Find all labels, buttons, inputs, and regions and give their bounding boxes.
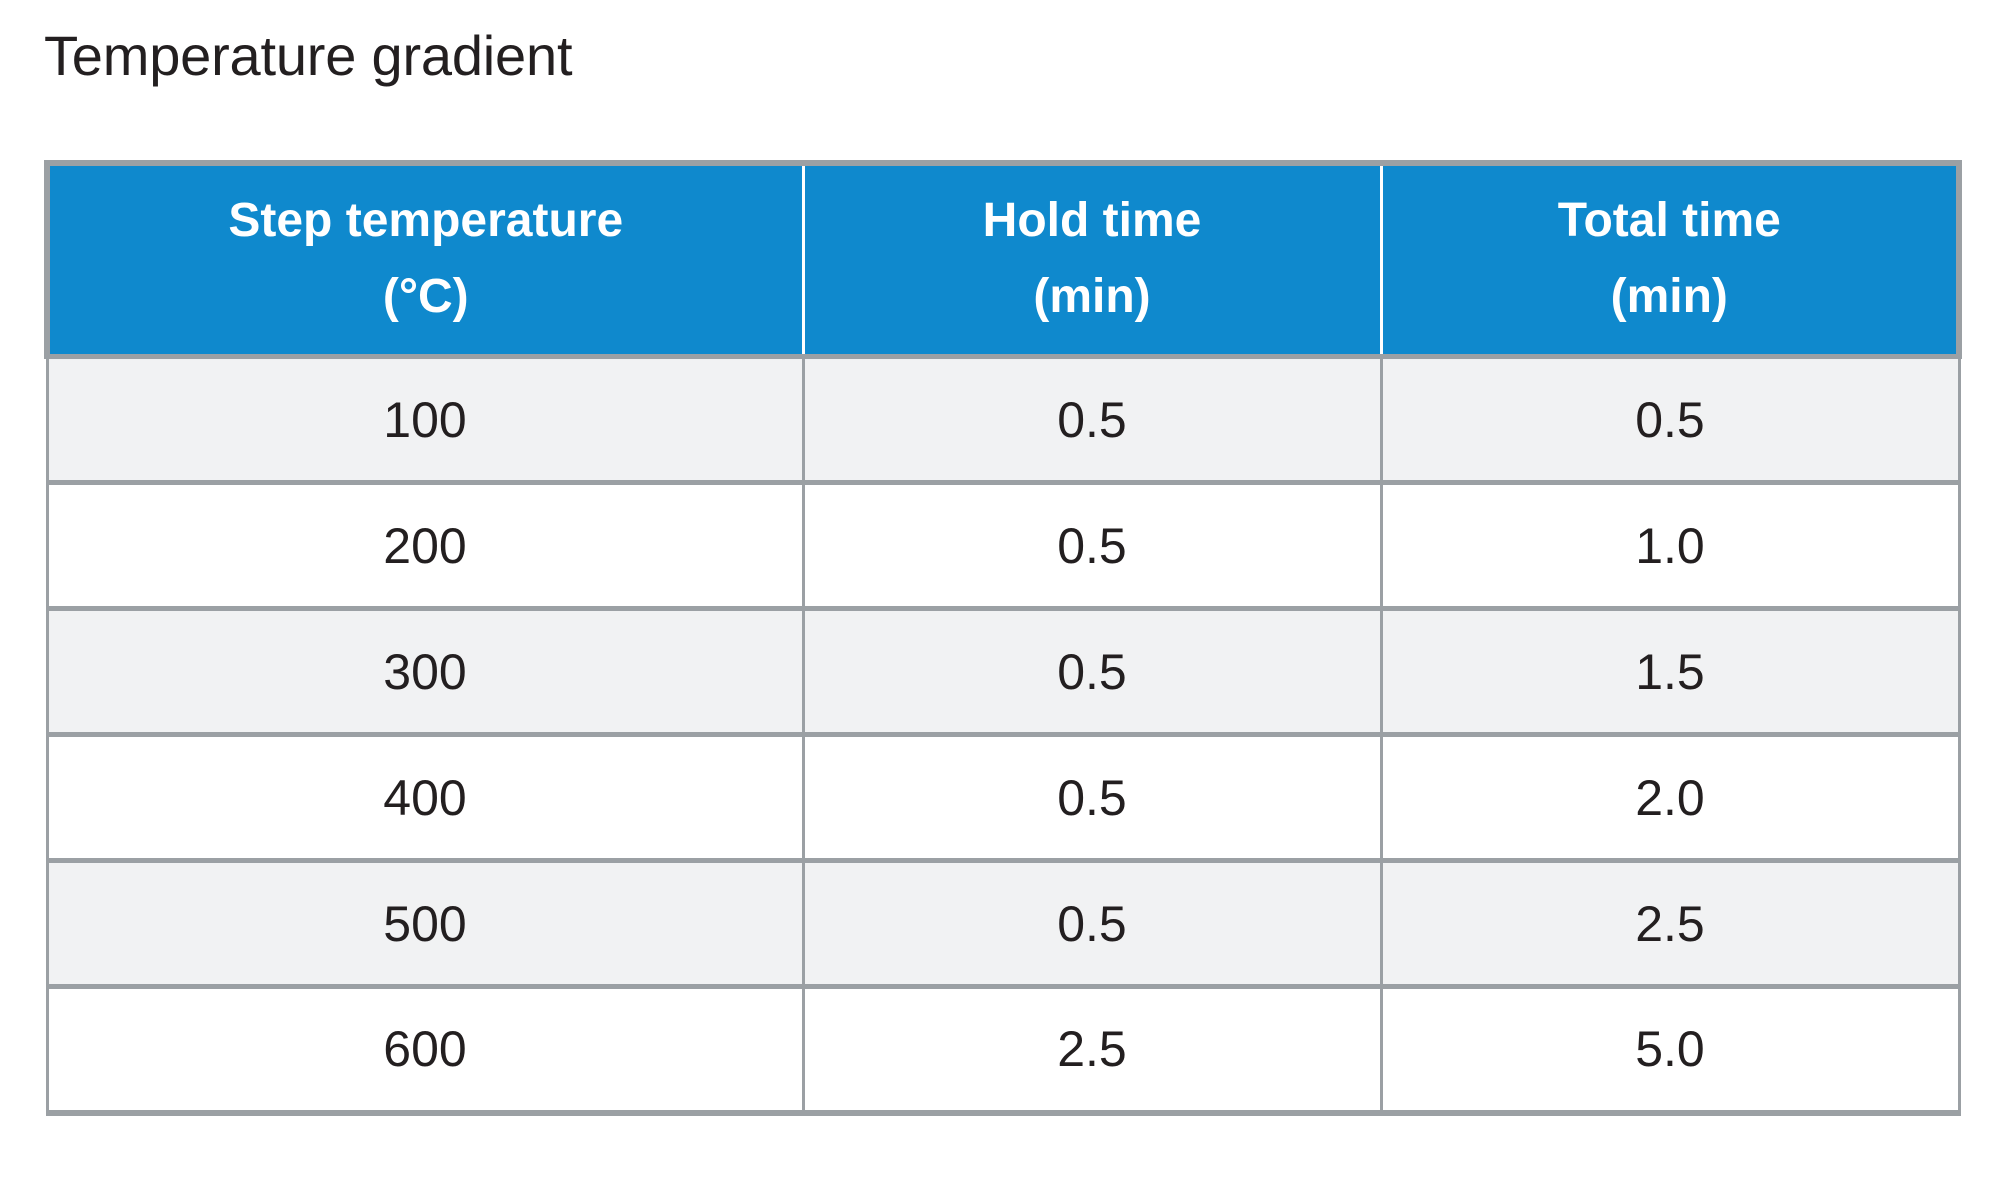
column-header-total-time-unit: (min) [1393,266,1947,328]
column-header-hold-time: Hold time (min) [803,163,1381,357]
table-header-row: Step temperature (°C) Hold time (min) To… [47,163,1959,357]
cell-hold-time: 0.5 [803,483,1381,609]
table-row: 400 0.5 2.0 [47,735,1959,861]
cell-total-time: 5.0 [1381,987,1959,1113]
table-figure: Temperature gradient Step temperature (°… [0,0,2000,1181]
cell-step-temperature: 200 [47,483,803,609]
cell-total-time: 1.5 [1381,609,1959,735]
cell-hold-time: 2.5 [803,987,1381,1113]
cell-step-temperature: 300 [47,609,803,735]
cell-hold-time: 0.5 [803,357,1381,483]
table-row: 600 2.5 5.0 [47,987,1959,1113]
column-header-step-temperature-unit: (°C) [60,266,792,328]
cell-total-time: 2.5 [1381,861,1959,987]
column-header-step-temperature: Step temperature (°C) [47,163,803,357]
table-row: 500 0.5 2.5 [47,861,1959,987]
cell-step-temperature: 600 [47,987,803,1113]
cell-hold-time: 0.5 [803,735,1381,861]
table-row: 100 0.5 0.5 [47,357,1959,483]
table-container: Step temperature (°C) Hold time (min) To… [44,160,1956,1116]
column-header-hold-time-unit: (min) [815,266,1370,328]
column-header-total-time: Total time (min) [1381,163,1959,357]
cell-step-temperature: 400 [47,735,803,861]
figure-caption: Temperature gradient [44,23,572,89]
column-header-hold-time-title: Hold time [815,190,1370,252]
cell-step-temperature: 500 [47,861,803,987]
table-row: 200 0.5 1.0 [47,483,1959,609]
column-header-step-temperature-title: Step temperature [60,190,792,252]
column-header-total-time-title: Total time [1393,190,1947,252]
cell-total-time: 2.0 [1381,735,1959,861]
cell-hold-time: 0.5 [803,609,1381,735]
table-body: 100 0.5 0.5 200 0.5 1.0 300 0.5 1.5 400 … [47,357,1959,1113]
table-header: Step temperature (°C) Hold time (min) To… [47,163,1959,357]
cell-step-temperature: 100 [47,357,803,483]
temperature-gradient-table: Step temperature (°C) Hold time (min) To… [44,160,1962,1116]
cell-hold-time: 0.5 [803,861,1381,987]
cell-total-time: 0.5 [1381,357,1959,483]
table-row: 300 0.5 1.5 [47,609,1959,735]
cell-total-time: 1.0 [1381,483,1959,609]
